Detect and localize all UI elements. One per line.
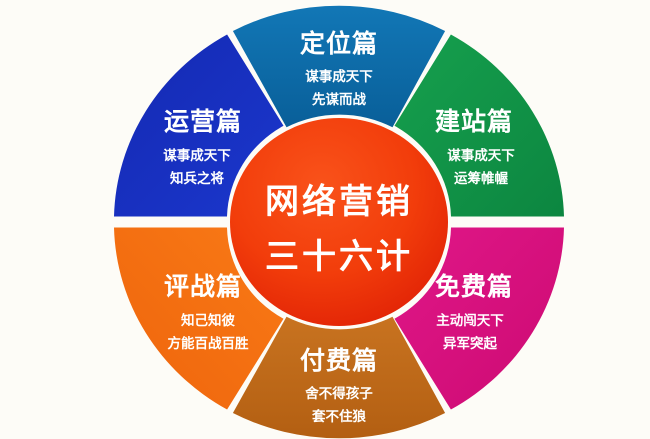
- segment-review-battle-sub1: 知己知彼: [181, 312, 235, 329]
- segment-free-sub2: 异军突起: [443, 335, 497, 352]
- segment-site-build-sub2: 运筹帷幄: [454, 170, 508, 187]
- segment-positioning-title: 定位篇: [300, 29, 378, 58]
- segment-operations-title: 运营篇: [164, 107, 242, 136]
- diagram-canvas: 定位篇 谋事成天下 先谋而战 建站篇 谋事成天下 运筹帷幄 免费篇 主动闯天下 …: [0, 0, 650, 439]
- segment-paid-sub1: 舍不得孩子: [304, 385, 373, 402]
- segment-site-build-title: 建站篇: [435, 107, 513, 136]
- segment-review-battle-title: 评战篇: [164, 272, 242, 301]
- segment-free-title: 免费篇: [435, 272, 513, 301]
- segment-operations-sub2: 知兵之将: [170, 170, 224, 187]
- segment-site-build-sub1: 谋事成天下: [447, 147, 515, 164]
- segment-paid-sub2: 套不住狼: [312, 408, 366, 425]
- center-hub-line1: 网络营销: [265, 182, 413, 222]
- center-hub-circle: [230, 118, 448, 326]
- segment-review-battle-sub2: 方能百战百胜: [168, 335, 249, 352]
- segment-paid-title: 付费篇: [300, 346, 378, 375]
- segment-free-sub1: 主动闯天下: [436, 312, 504, 329]
- marketing-wheel-diagram: 定位篇 谋事成天下 先谋而战 建站篇 谋事成天下 运筹帷幄 免费篇 主动闯天下 …: [0, 0, 650, 439]
- segment-positioning-sub2: 先谋而战: [312, 91, 366, 108]
- center-hub[interactable]: 网络营销 三十六计: [230, 118, 448, 326]
- segment-operations-sub1: 谋事成天下: [163, 147, 231, 164]
- center-hub-line2: 三十六计: [265, 237, 413, 277]
- segment-positioning-sub1: 谋事成天下: [305, 68, 373, 85]
